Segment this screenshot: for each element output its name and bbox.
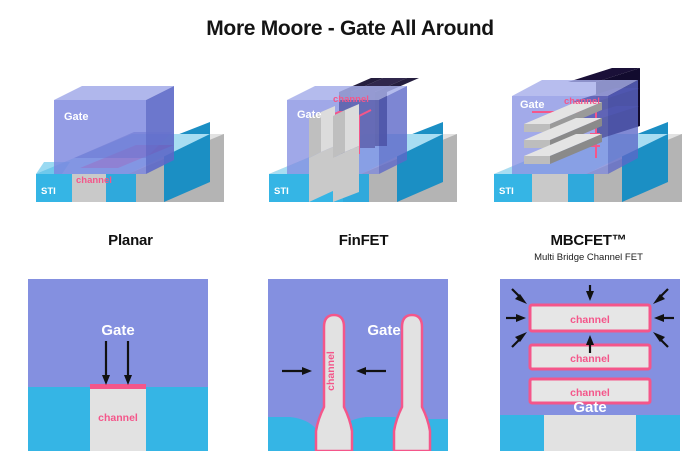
planar-3d-diagram: Gate channel STI <box>14 62 247 232</box>
planar-xs-gate-label: Gate <box>101 322 134 339</box>
planar-xs-channel-label: channel <box>98 412 138 424</box>
mbcfet-3d-channel-label: channel <box>564 96 600 107</box>
planar-3d-gate-label: Gate <box>64 111 88 123</box>
caption-mbcfet-title: MBCFET™ <box>472 232 700 249</box>
finfet-xs-gate-label: Gate <box>367 322 400 339</box>
finfet-cross-section: Gate channel <box>268 279 448 451</box>
mbcfet-3d-diagram: Gate channel STI <box>472 62 700 232</box>
mbcfet-xs-gate-label: Gate <box>573 399 606 416</box>
finfet-3d-gate-label: Gate <box>297 109 321 121</box>
finfet-3d-diagram: Gate channel STI <box>247 62 480 232</box>
finfet-xs-channel-label: channel <box>325 351 337 391</box>
planar-cross-section: Gate channel <box>28 279 208 451</box>
caption-mbcfet-subtitle: Multi Bridge Channel FET <box>472 252 700 263</box>
caption-planar: Planar <box>14 232 247 249</box>
mbcfet-3d-sti-label: STI <box>499 186 514 197</box>
planar-3d-channel-label: channel <box>76 175 112 186</box>
cross-section-row: Gate channel Gate channel <box>0 279 700 451</box>
caption-finfet-title: FinFET <box>247 232 480 249</box>
mbcfet-xs-channel-label-2: channel <box>570 353 610 365</box>
three-d-diagram-row: Gate channel STI <box>0 62 700 232</box>
caption-mbcfet: MBCFET™ Multi Bridge Channel FET <box>472 232 700 263</box>
caption-row: Planar FinFET MBCFET™ Multi Bridge Chann… <box>0 232 700 264</box>
mbcfet-3d-gate-label: Gate <box>520 99 544 111</box>
planar-3d-sti-label: STI <box>41 186 56 197</box>
page-title: More Moore - Gate All Around <box>0 17 700 41</box>
mbcfet-xs-channel-label-1: channel <box>570 314 610 326</box>
mbcfet-cross-section: channel channel channel Gate <box>500 279 680 451</box>
finfet-3d-sti-label: STI <box>274 186 289 197</box>
caption-finfet: FinFET <box>247 232 480 249</box>
caption-planar-title: Planar <box>14 232 247 249</box>
mbcfet-xs-channel-label-3: channel <box>570 387 610 399</box>
finfet-3d-channel-label: channel <box>333 94 369 105</box>
